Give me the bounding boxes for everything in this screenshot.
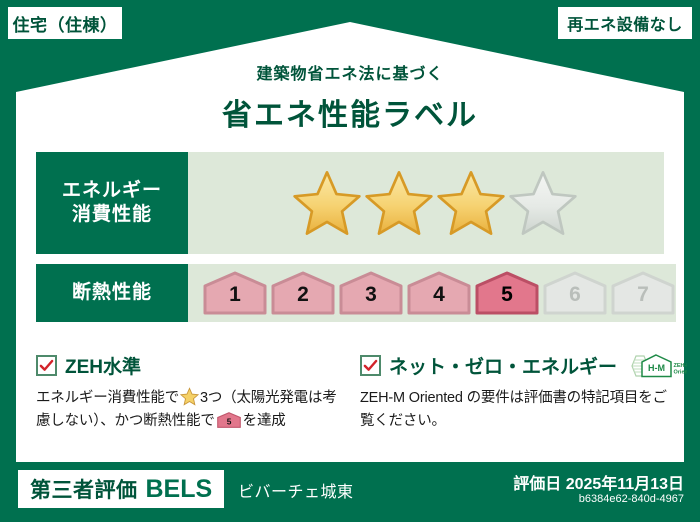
house-chip-icon: 2	[270, 271, 336, 315]
svg-text:ZEH-M: ZEH-M	[674, 363, 688, 369]
note-zeh-header: ZEH水準	[36, 352, 342, 379]
note-nze-header: ネット・ゼロ・エネルギー H-M ZEH-M Oriented	[360, 352, 668, 379]
note-zeh-title: ZEH水準	[65, 352, 141, 379]
bels-jp-label: 第三者評価	[30, 474, 138, 504]
svg-text:Oriented: Oriented	[674, 369, 688, 375]
insulation-level-number: 3	[338, 284, 404, 305]
evaluation-date: 評価日 2025年11月13日	[513, 470, 684, 494]
badge-building-type: 住宅（住棟）	[6, 5, 124, 41]
note-zeh-body-part3: を達成	[243, 413, 286, 429]
title-subtitle: 建築物省エネ法に基づく	[0, 60, 700, 84]
note-zeh-standard: ZEH水準 エネルギー消費性能で3つ（太陽光発電は考慮しない）、かつ断熱性能で5…	[36, 352, 342, 433]
footer-bar: 第三者評価 BELS ビバーチェ城東 評価日 2025年11月13日 b6384…	[0, 462, 700, 522]
insulation-level-number: 6	[542, 284, 608, 305]
note-nze-body: ZEH-M Oriented の要件は評価書の特記項目をご覧ください。	[360, 387, 668, 433]
insulation-level-number: 7	[610, 284, 676, 305]
note-nze-title: ネット・ゼロ・エネルギー	[389, 352, 617, 379]
note-zeh-body-part1: エネルギー消費性能で	[36, 390, 179, 406]
house-chip-icon: 5	[217, 412, 241, 429]
house-chip-icon: 4	[406, 271, 472, 315]
building-name: ビバーチェ城東	[238, 478, 354, 502]
house-chip-icon: 6	[542, 271, 608, 315]
star-icon-empty	[507, 169, 579, 237]
note-zeh-body: エネルギー消費性能で3つ（太陽光発電は考慮しない）、かつ断熱性能で5を達成	[36, 387, 342, 433]
insulation-level-number: 5	[474, 284, 540, 305]
insulation-performance-row: 断熱性能 1234567	[36, 264, 664, 322]
notes-section: ZEH水準 エネルギー消費性能で3つ（太陽光発電は考慮しない）、かつ断熱性能で5…	[36, 352, 668, 433]
star-rating	[188, 152, 664, 254]
insulation-level-number: 2	[270, 284, 336, 305]
badge-renewable-equipment: 再エネ設備なし	[556, 5, 694, 41]
star-icon-filled	[363, 169, 435, 237]
checkmark-icon	[36, 355, 57, 376]
house-chip-icon: 1	[202, 271, 268, 315]
star-icon-filled	[291, 169, 363, 237]
energy-label-line-2: 消費性能	[72, 203, 152, 227]
house-chip-icon: 5	[474, 271, 540, 315]
zeh-m-oriented-logo: H-M ZEH-M Oriented	[625, 353, 687, 379]
evaluation-date-label: 評価日	[513, 476, 561, 493]
svg-text:H-M: H-M	[648, 363, 665, 373]
insulation-level-number: 4	[406, 284, 472, 305]
insulation-level-number: 1	[202, 284, 268, 305]
page-title: 省エネ性能ラベル	[0, 90, 700, 134]
insulation-label-text: 断熱性能	[72, 281, 152, 305]
bels-certification-badge: 第三者評価 BELS	[18, 470, 224, 508]
svg-text:5: 5	[226, 417, 231, 427]
note-net-zero-energy: ネット・ゼロ・エネルギー H-M ZEH-M Oriented ZEH-M Or…	[360, 352, 668, 433]
energy-label-line-1: エネルギー	[62, 179, 162, 203]
title-block: 建築物省エネ法に基づく 省エネ性能ラベル	[0, 60, 700, 134]
house-chip-icon: 7	[610, 271, 676, 315]
energy-consumption-row: エネルギー 消費性能	[36, 152, 664, 254]
insulation-level-scale: 1234567	[188, 264, 676, 322]
bels-en-label: BELS	[146, 475, 213, 504]
energy-performance-label: 住宅（住棟） 再エネ設備なし 建築物省エネ法に基づく 省エネ性能ラベル エネルギ…	[0, 0, 700, 522]
star-icon-filled	[435, 169, 507, 237]
insulation-performance-label: 断熱性能	[36, 264, 188, 322]
energy-consumption-label: エネルギー 消費性能	[36, 152, 188, 254]
house-chip-icon: 3	[338, 271, 404, 315]
star-icon	[180, 387, 199, 406]
evaluation-date-value: 2025年11月13日	[566, 476, 684, 493]
checkmark-icon	[360, 355, 381, 376]
evaluation-id: b6384e62-840d-4967	[579, 493, 684, 505]
